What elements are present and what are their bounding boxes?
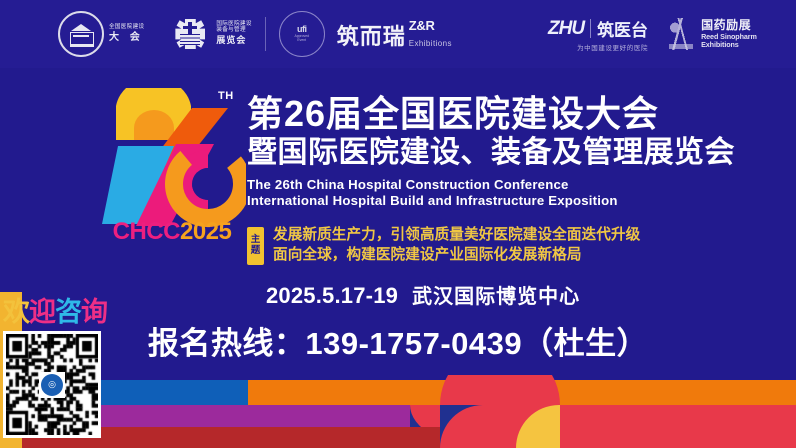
welcome-char-3: 咨: [55, 297, 81, 327]
ufi-subtitle: ApprovedEvent: [294, 35, 309, 43]
theme-badge: 主 题: [247, 227, 264, 265]
main-title-cn: 第26届全国医院建设大会: [247, 96, 787, 133]
qr-center-emblem-icon: ◎: [41, 374, 63, 396]
poster-root: 全国医院建设 大 会 国际医院建设 装备与管理 展览会 ufi App: [0, 0, 796, 448]
reed-en-line2: Exhibitions: [701, 41, 757, 49]
theme-line1: 发展新质生产力，引领高质量美好医院建设全面迭代升级: [273, 226, 640, 246]
zhuerui-logo: 筑而瑞 Z&R Exhibitions: [337, 18, 452, 51]
partner-logos-left: 全国医院建设 大 会 国际医院建设 装备与管理 展览会 ufi App: [58, 10, 452, 58]
welcome-char-2: 迎: [29, 297, 55, 327]
date-venue-line: 2025.5.17-19 武汉国际博览中心: [266, 280, 580, 309]
theme-block: 主 题 发展新质生产力，引领高质量美好医院建设全面迭代升级 面向全球，构建医院建…: [247, 226, 640, 265]
exhibition-snowflake-emblem: 国际医院建设 装备与管理 展览会: [168, 12, 251, 56]
zhuerui-cn: 筑而瑞: [337, 19, 406, 51]
anniversary-26-graphic: [96, 88, 246, 238]
chcc-conference-emblem: 全国医院建设 大 会: [58, 11, 144, 57]
partner-logos-right: ZHU 筑医台 为中国建设更好的医院 国药励展 Reed Sinopharm E…: [548, 12, 757, 56]
welcome-char-4: 询: [81, 297, 107, 327]
logo-divider: [265, 17, 266, 51]
partner-logo-bar: 全国医院建设 大 会 国际医院建设 装备与管理 展览会 ufi App: [0, 0, 796, 68]
conference-emblem-subtitle: 全国医院建设: [109, 25, 144, 31]
decorative-color-bands: [0, 375, 796, 448]
reed-cn-label: 国药励展: [701, 19, 757, 32]
event-date: 2025.5.17-19: [266, 283, 398, 309]
main-title-en: The 26th China Hospital Construction Con…: [247, 177, 787, 193]
qr-consult-panel: 欢迎咨询 ◎: [0, 292, 104, 448]
exhibition-emblem-title: 展览会: [216, 36, 251, 45]
zhuerui-en-word: Exhibitions: [409, 39, 452, 48]
qr-code[interactable]: ◎: [3, 331, 101, 438]
zhuerui-en-abbrev: Z&R: [409, 18, 435, 33]
zhu-yitai-logo: ZHU 筑医台 为中国建设更好的医院: [548, 16, 648, 52]
theme-badge-char1: 主: [251, 235, 261, 246]
welcome-consult-text: 欢迎咨询: [3, 294, 103, 330]
conference-emblem-title: 大 会: [109, 33, 144, 44]
ufi-label: ufi: [297, 25, 307, 34]
color-bands-graphic: [0, 375, 796, 448]
event-venue: 武汉国际博览中心: [412, 280, 580, 309]
anniversary-superscript: TH: [218, 90, 234, 102]
theme-badge-char2: 题: [251, 246, 261, 257]
sub-title-en: International Hospital Build and Infrast…: [247, 193, 787, 209]
chcc-wordmark-year: 2025: [180, 218, 231, 245]
hospital-building-icon: [58, 11, 104, 57]
snowflake-icon: [168, 12, 212, 56]
exhibition-emblem-line2: 装备与管理: [216, 28, 251, 34]
welcome-char-1: 欢: [3, 297, 29, 327]
qr-center-logo: ◎: [39, 372, 65, 398]
zhu-slogan: 为中国建设更好的医院: [548, 42, 648, 52]
title-block: 第26届全国医院建设大会 暨国际医院建设、装备及管理展览会 The 26th C…: [247, 96, 787, 209]
zhu-en-label: ZHU: [548, 18, 584, 40]
registration-hotline: 报名热线：139-1757-0439（杜生）: [0, 318, 796, 363]
chcc-wordmark: CHCC2025: [98, 220, 246, 244]
reed-sinopharm-mark-icon: [666, 18, 696, 50]
reed-sinopharm-logo: 国药励展 Reed Sinopharm Exhibitions: [666, 18, 757, 50]
ufi-emblem: ufi ApprovedEvent: [279, 11, 325, 57]
zhu-cn-label: 筑医台: [597, 16, 648, 41]
zhu-divider: [590, 19, 591, 38]
chcc-wordmark-pink: CHCC: [113, 218, 180, 245]
theme-line2: 面向全球，构建医院建设产业国际化发展新格局: [273, 246, 640, 266]
poster-main: TH CHCC2025 第26届全国医院建设大会 暨国际医院建设、装备及管理展览…: [0, 68, 796, 375]
sub-title-cn: 暨国际医院建设、装备及管理展览会: [247, 136, 787, 169]
